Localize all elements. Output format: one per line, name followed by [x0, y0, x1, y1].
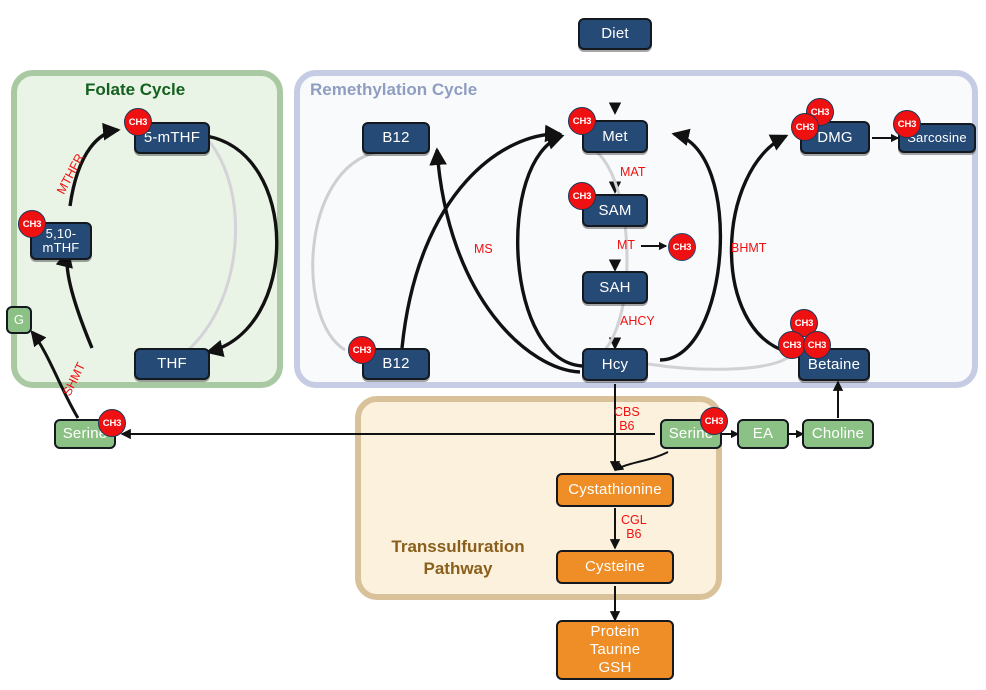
transsulfuration-line-2: Pathway [363, 558, 553, 580]
enzyme-label-cbs-cofactor: B6 [614, 419, 640, 433]
transsulfuration-line-1: Transsulfuration [363, 536, 553, 558]
enzyme-label-cgl: CGL B6 [621, 513, 647, 541]
remethylation-cycle-title: Remethylation Cycle [310, 80, 477, 100]
methyl-badge-serine-left: CH3 [98, 409, 126, 437]
methyl-badge-5-10-mthf: CH3 [18, 210, 46, 238]
node-thf[interactable]: THF [134, 348, 210, 380]
node-products[interactable]: Protein Taurine GSH [556, 620, 674, 680]
node-choline[interactable]: Choline [802, 419, 874, 449]
node-b12-top[interactable]: B12 [362, 122, 430, 154]
enzyme-label-cgl-cofactor: B6 [621, 527, 647, 541]
methyl-badge-betaine-3: CH3 [803, 331, 831, 359]
compartment-remethylation-cycle [294, 70, 978, 388]
enzyme-label-cgl-name: CGL [621, 513, 647, 527]
methyl-badge-serine-right: CH3 [700, 407, 728, 435]
node-diet[interactable]: Diet [578, 18, 652, 50]
methyl-badge-betaine-2: CH3 [778, 331, 806, 359]
enzyme-label-ahcy: AHCY [620, 314, 655, 328]
methyl-badge-5-mthf: CH3 [124, 108, 152, 136]
methyl-badge-released: CH3 [668, 233, 696, 261]
methyl-badge-dmg-2: CH3 [791, 113, 819, 141]
methyl-badge-sam: CH3 [568, 182, 596, 210]
enzyme-label-cbs-name: CBS [614, 405, 640, 419]
enzyme-label-bhmt: BHMT [731, 241, 766, 255]
node-cystathionine[interactable]: Cystathionine [556, 473, 674, 507]
node-5-10-mthf-line-2: mTHF [43, 241, 80, 255]
enzyme-label-mt: MT [617, 238, 635, 252]
node-hcy[interactable]: Hcy [582, 348, 648, 381]
product-taurine: Taurine [590, 641, 641, 659]
product-gsh: GSH [598, 659, 631, 677]
product-protein: Protein [591, 623, 640, 641]
methyl-badge-b12-bottom: CH3 [348, 336, 376, 364]
node-ea[interactable]: EA [737, 419, 789, 449]
methyl-badge-sarcosine: CH3 [893, 110, 921, 138]
transsulfuration-pathway-title: Transsulfuration Pathway [363, 536, 553, 580]
enzyme-label-ms: MS [474, 242, 493, 256]
methyl-badge-met: CH3 [568, 107, 596, 135]
node-cysteine[interactable]: Cysteine [556, 550, 674, 584]
folate-cycle-title: Folate Cycle [85, 80, 185, 100]
enzyme-label-cbs: CBS B6 [614, 405, 640, 433]
node-sah[interactable]: SAH [582, 271, 648, 304]
pathway-diagram: Folate Cycle Remethylation Cycle Transsu… [0, 0, 986, 690]
enzyme-label-mat: MAT [620, 165, 645, 179]
node-5-10-mthf-line-1: 5,10- [46, 227, 77, 241]
node-glycine[interactable]: G [6, 306, 32, 334]
